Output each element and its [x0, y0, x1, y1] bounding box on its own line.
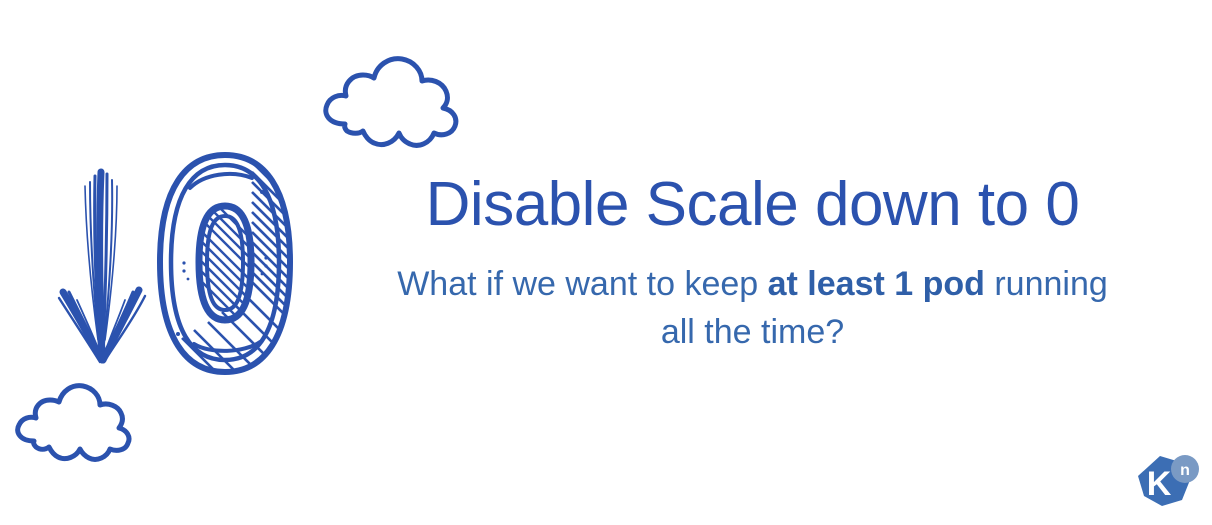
logo-letter-k: K	[1147, 465, 1172, 503]
down-arrow-sketch-icon	[55, 160, 155, 372]
slide-subtitle: What if we want to keep at least 1 pod r…	[330, 261, 1175, 356]
zero-digit-sketch-icon	[148, 148, 303, 380]
subtitle-line1-after: running	[985, 265, 1108, 303]
slide-text-block: Disable Scale down to 0 What if we want …	[330, 172, 1175, 356]
cloud-icon	[8, 380, 136, 465]
cloud-icon	[315, 52, 465, 152]
knative-logo: K n	[1128, 448, 1206, 520]
logo-letter-n: n	[1180, 462, 1190, 479]
subtitle-emphasis: at least 1 pod	[768, 265, 985, 303]
subtitle-line2: all the time?	[661, 313, 844, 351]
slide-canvas: Disable Scale down to 0 What if we want …	[0, 0, 1212, 525]
subtitle-line1-before: What if we want to keep	[397, 265, 767, 303]
page-title: Disable Scale down to 0	[330, 172, 1175, 239]
